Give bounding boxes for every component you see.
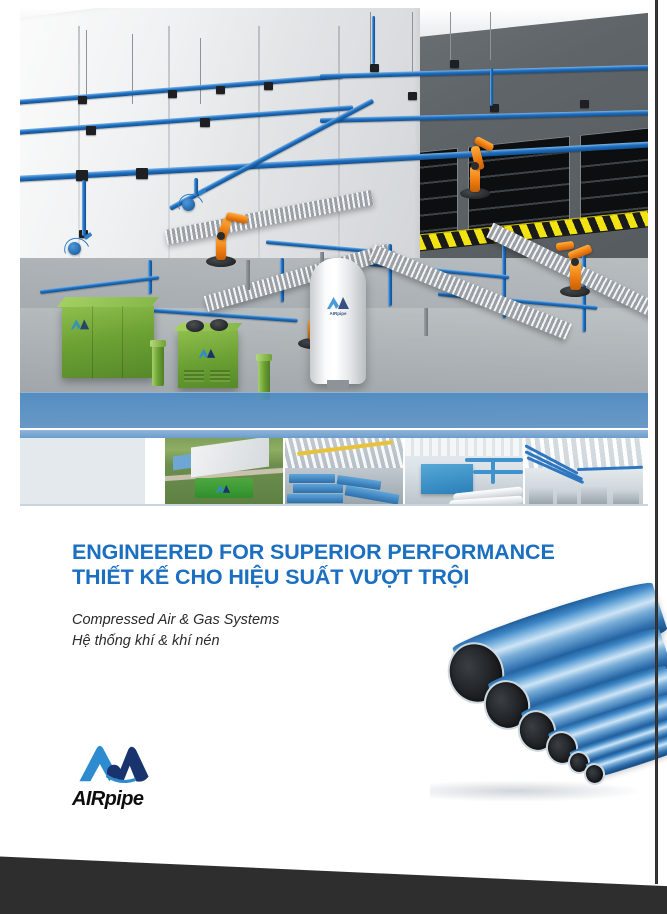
air-receiver-tank [310, 258, 366, 384]
tank-foot [327, 380, 349, 389]
page-edge-bottom [0, 838, 667, 914]
strip-blank-panel [20, 438, 145, 504]
thumbnail-pipe-warehouse [285, 438, 403, 504]
air-filter-unit [152, 346, 164, 386]
hero-blue-band [20, 392, 648, 428]
thumbnail-strip [20, 430, 648, 504]
headline-english: ENGINEERED FOR SUPERIOR PERFORMANCE [72, 540, 632, 565]
thumbnail-aerial-factory [165, 438, 283, 504]
pipe-bundle-graphic [420, 630, 655, 810]
svg-text:AIRpipe: AIRpipe [329, 311, 346, 316]
pipe-bundle-shadow [430, 780, 645, 802]
brochure-page: AIRpipe [0, 0, 667, 914]
air-compressor-unit [62, 306, 154, 378]
airpipe-mark-icon [76, 742, 152, 786]
refrigerated-dryer [178, 330, 238, 388]
brand-logo: AIRpipe [72, 742, 222, 812]
subtitle-english: Compressed Air & Gas Systems [72, 610, 492, 631]
tank-airpipe-logo: AIRpipe [326, 294, 350, 314]
thumbnail-compressor-room [405, 438, 523, 504]
airpipe-mark-icon [70, 316, 90, 332]
headline-vietnamese: THIẾT KẾ CHO HIỆU SUẤT VƯỢT TRỘI [72, 565, 632, 590]
thumbnail-factory-interior [525, 438, 643, 504]
airpipe-mark-icon [198, 346, 216, 360]
page-edge-right [655, 0, 658, 884]
strip-accent-bar [20, 430, 648, 438]
hero-image: AIRpipe [20, 8, 648, 428]
airpipe-mark-icon [215, 483, 231, 494]
strip-bottom-rule [20, 504, 648, 506]
brand-wordmark: AIRpipe [72, 788, 143, 811]
page-title: ENGINEERED FOR SUPERIOR PERFORMANCE THIẾ… [72, 540, 632, 590]
